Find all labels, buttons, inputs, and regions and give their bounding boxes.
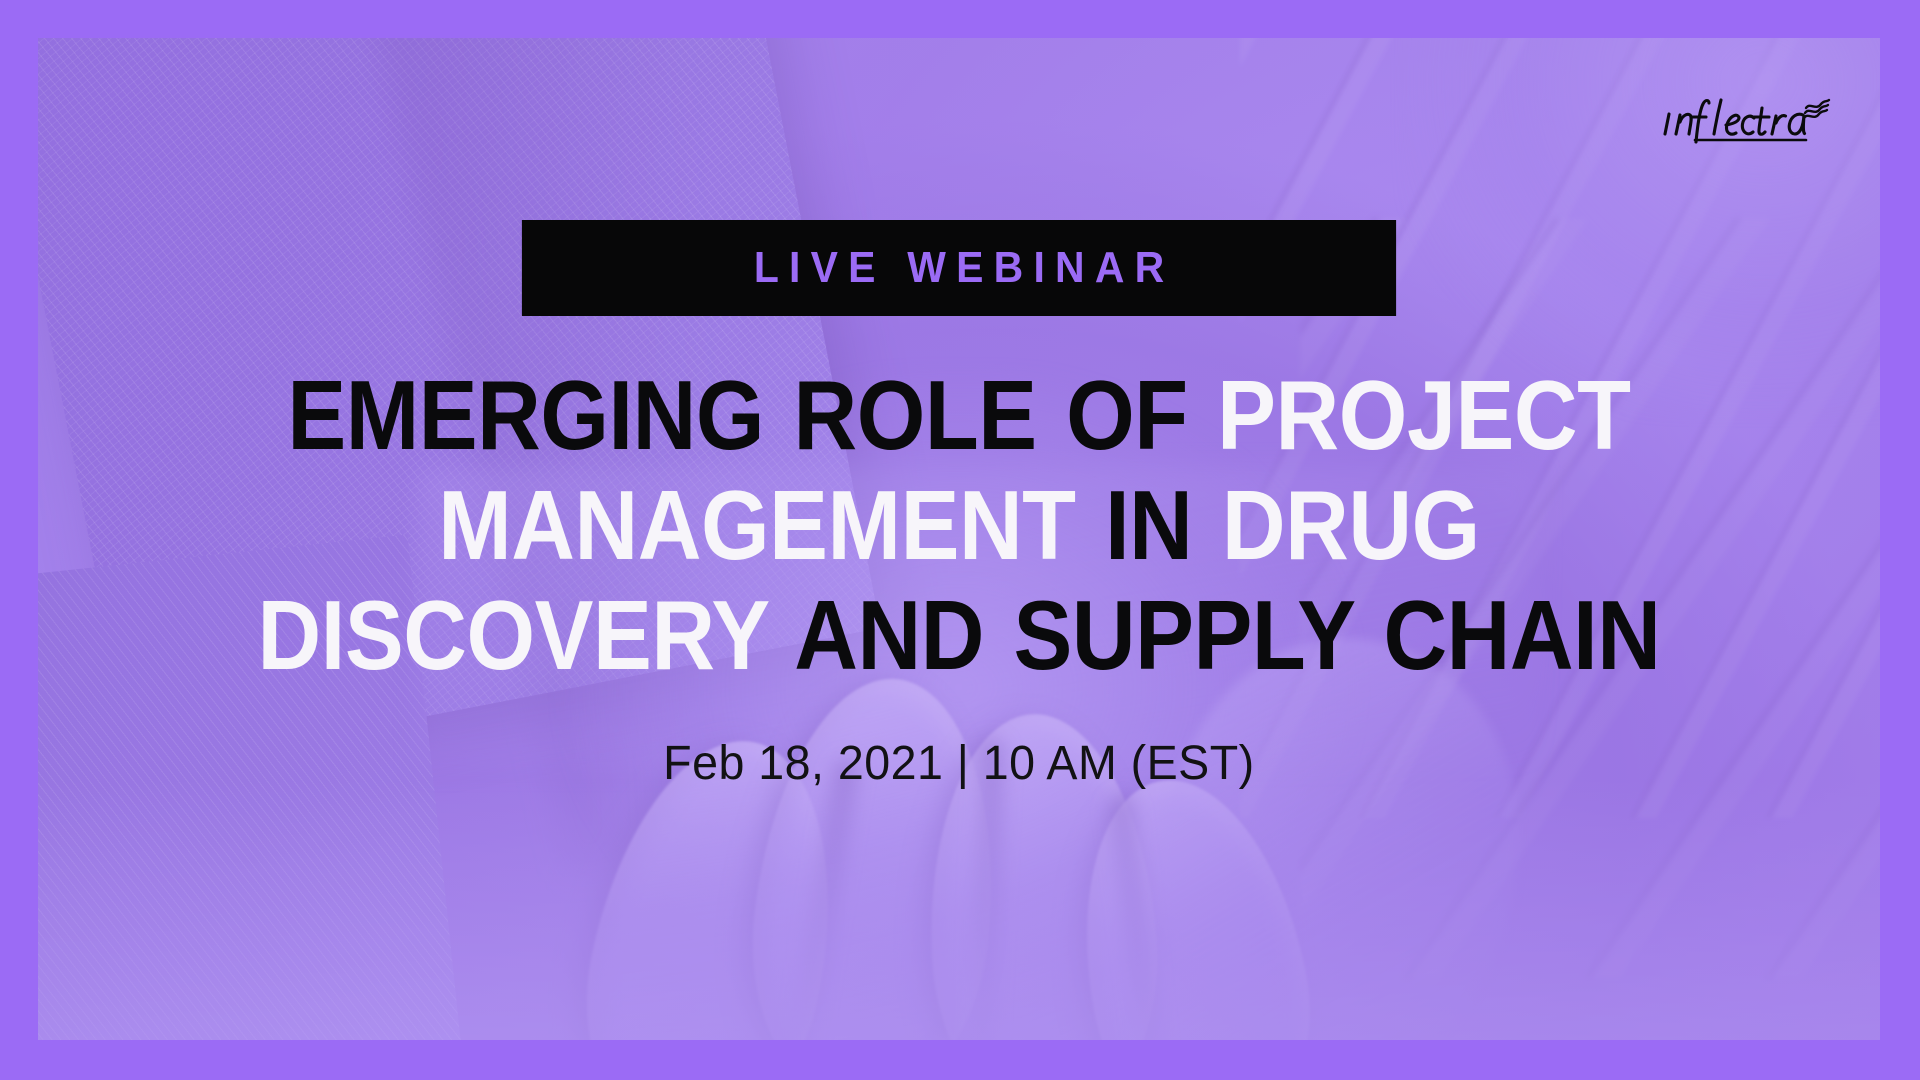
event-datetime: Feb 18, 2021 | 10 AM (EST) [663,736,1254,791]
title-line-1-dark: EMERGING ROLE OF [287,360,1187,470]
title-line-2-dark: IN [1105,470,1192,580]
title-line-3-dark: AND SUPPLY CHAIN [794,580,1660,690]
title-line-2-light-a: MANAGEMENT [438,470,1075,580]
title-line-2-light-b: DRUG [1222,470,1480,580]
webinar-poster: LIVE WEBINAR EMERGING ROLE OF PROJECT MA… [0,0,1920,1080]
page-title: EMERGING ROLE OF PROJECT MANAGEMENT IN D… [109,366,1809,696]
live-webinar-badge: LIVE WEBINAR [522,220,1396,316]
title-line-1: EMERGING ROLE OF PROJECT [194,366,1724,466]
title-line-2: MANAGEMENT IN DRUG [194,476,1724,576]
inflectra-logo[interactable] [1656,90,1836,148]
title-line-1-light: PROJECT [1217,360,1630,470]
title-line-3-light: DISCOVERY [258,580,769,690]
poster-canvas: LIVE WEBINAR EMERGING ROLE OF PROJECT MA… [38,38,1880,1040]
poster-content: LIVE WEBINAR EMERGING ROLE OF PROJECT MA… [38,38,1880,1040]
wave-mark-icon [1804,100,1829,118]
title-line-3: DISCOVERY AND SUPPLY CHAIN [194,586,1724,686]
